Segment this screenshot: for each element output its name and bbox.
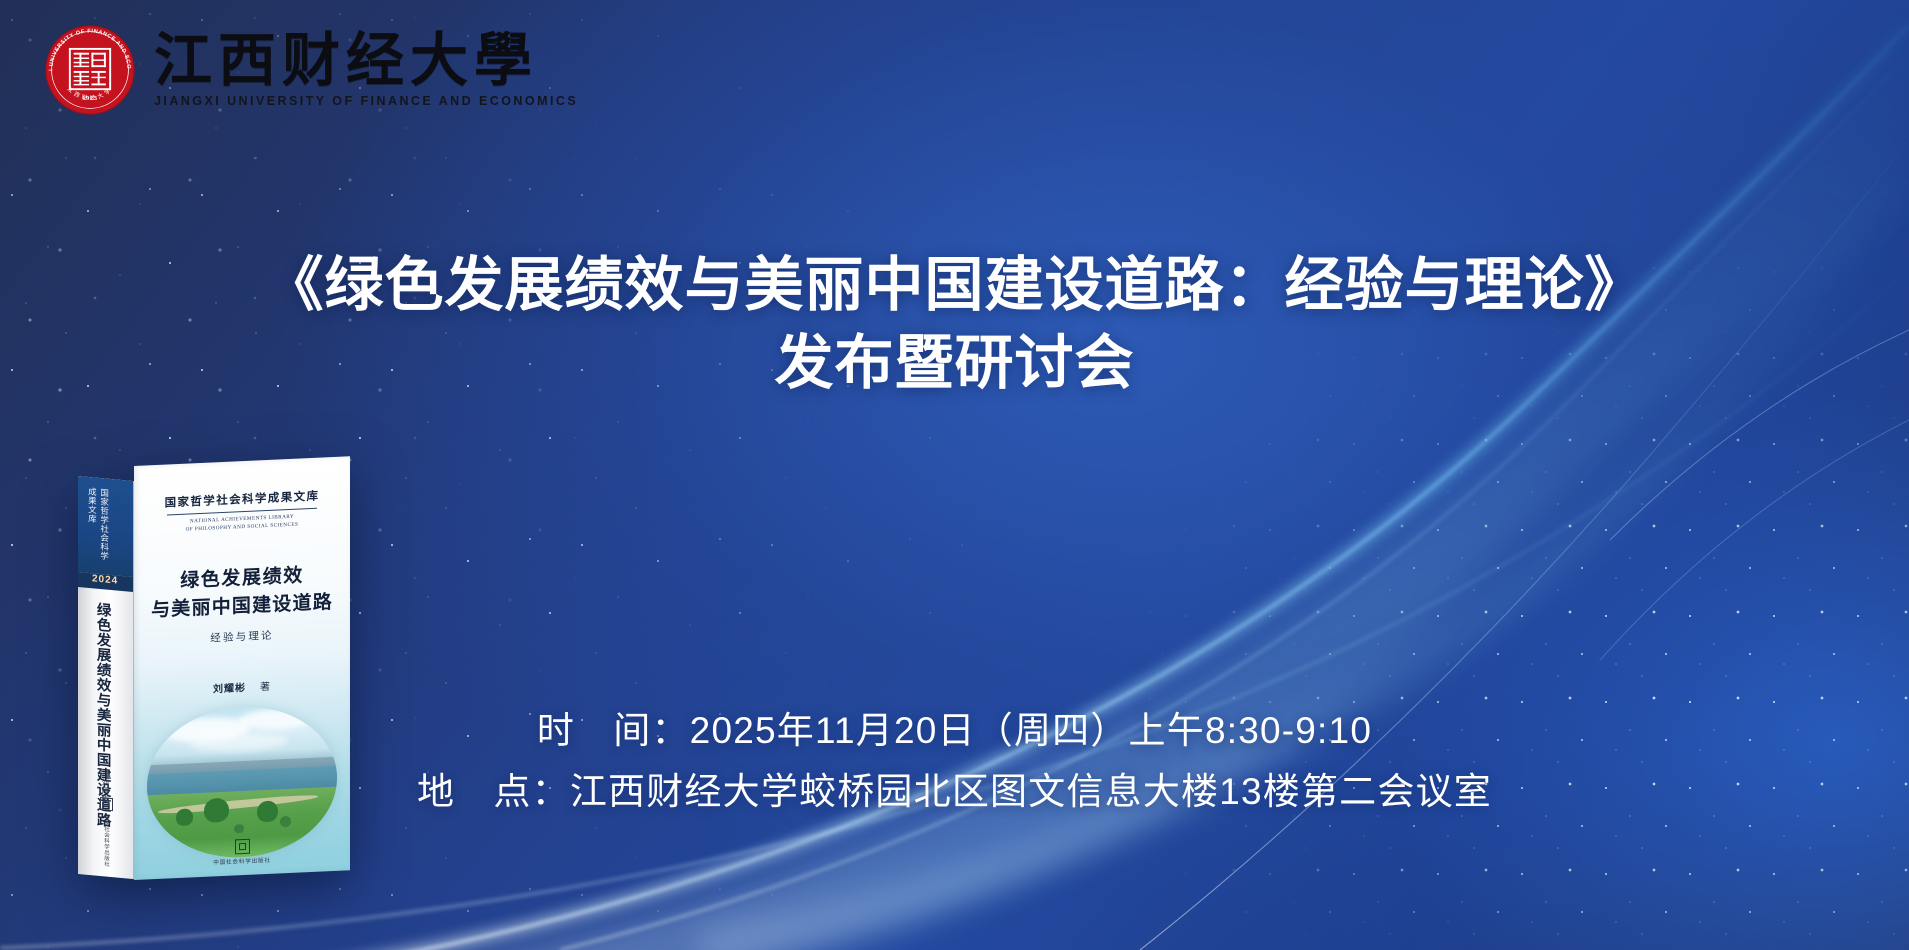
wordmark: 江西财经大學 JIANGXI UNIVERSITY OF FINANCE AND…: [154, 32, 578, 108]
spine-library-label: 国家哲学社会科学成果文库: [86, 487, 111, 567]
cover-author-line: 刘耀彬著: [134, 674, 350, 699]
wordmark-english: JIANGXI UNIVERSITY OF FINANCE AND ECONOM…: [154, 95, 578, 108]
cover-title: 绿色发展绩效 与美丽中国建设道路 经验与理论: [134, 560, 350, 649]
cover-library-cn: 国家哲学社会科学成果文库: [134, 486, 350, 512]
cover-publisher-name: 中国社会科学出版社: [134, 852, 350, 870]
wordmark-chinese: 江西财经大學: [154, 32, 578, 90]
brand-header: JIANGXI UNIVERSITY OF FINANCE AND ECONOM…: [42, 22, 578, 118]
title-line-2: 发布暨研讨会: [0, 324, 1909, 402]
spine-year: 2024: [92, 573, 118, 586]
cover-subtitle: 经验与理论: [134, 624, 350, 649]
event-details: 时 间：2025年11月20日（周四）上午8:30-9:10 地 点：江西财经大…: [0, 700, 1909, 822]
poster-canvas: JIANGXI UNIVERSITY OF FINANCE AND ECONOM…: [0, 0, 1909, 950]
university-seal-icon: JIANGXI UNIVERSITY OF FINANCE AND ECONOM…: [42, 22, 138, 118]
event-time: 时 间：2025年11月20日（周四）上午8:30-9:10: [0, 700, 1909, 761]
cover-library-header: 国家哲学社会科学成果文库 NATIONAL ACHIEVEMENTS LIBRA…: [134, 486, 350, 536]
event-place: 地 点：江西财经大学蛟桥园北区图文信息大楼13楼第二会议室: [0, 761, 1909, 822]
page-title: 《绿色发展绩效与美丽中国建设道路：经验与理论》 发布暨研讨会: [0, 246, 1909, 403]
cover-author: 刘耀彬: [213, 683, 246, 695]
cover-author-suffix: 著: [260, 682, 271, 693]
title-line-1: 《绿色发展绩效与美丽中国建设道路：经验与理论》: [0, 246, 1909, 324]
publisher-mark-icon: [235, 839, 250, 855]
